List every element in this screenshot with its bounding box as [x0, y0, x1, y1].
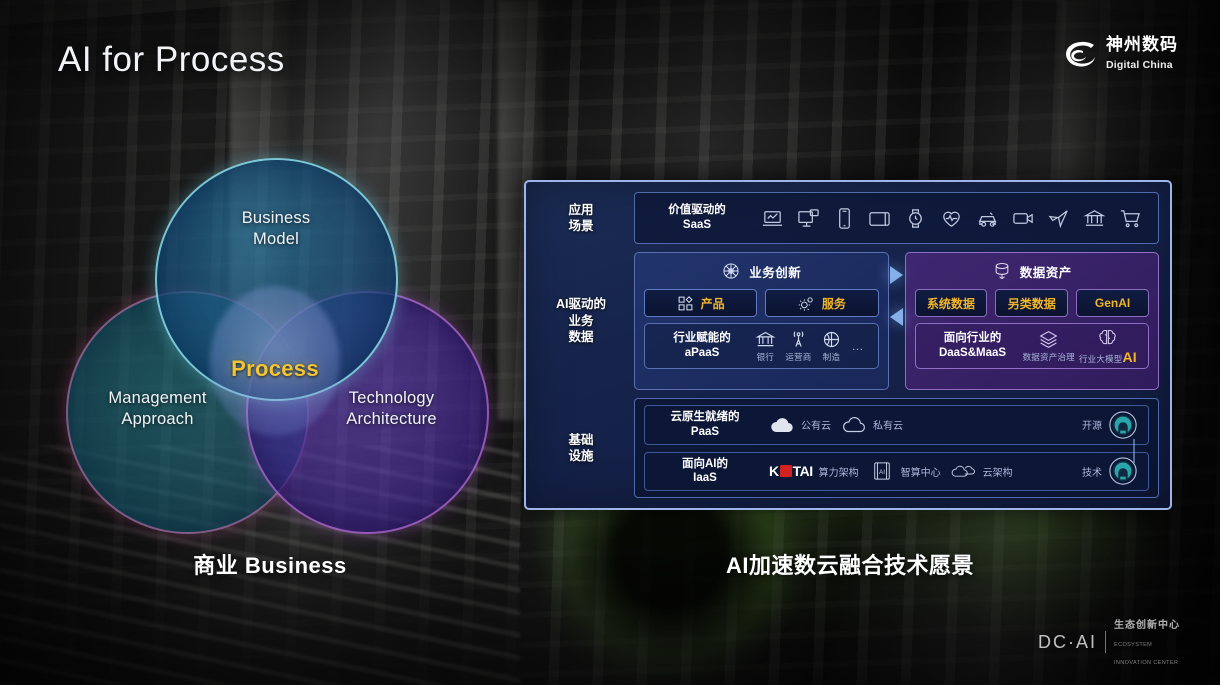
- sphere-network-icon: [721, 261, 741, 281]
- brand-logo: 神州数码 Digital China: [1063, 36, 1178, 73]
- iaas-title: 面向AI的 IaaS: [655, 457, 755, 486]
- kutai-red-square: [780, 465, 792, 477]
- openeuler-icon: [1108, 410, 1138, 440]
- tier-label-infrastructure: 基础 设施: [537, 398, 625, 498]
- shopping-cart-icon: [1119, 207, 1142, 230]
- iaas-item-ai-compute-center: AI 智算中心: [869, 461, 941, 481]
- brain-ai-icon: [1097, 327, 1118, 348]
- iaas-tail: 技术: [1082, 456, 1138, 486]
- footer-dcai-text: DC·AI: [1038, 632, 1097, 653]
- chip-product[interactable]: 产品: [644, 289, 757, 317]
- column-business-innovation: 业务创新 产品 服务: [634, 252, 889, 390]
- iaas-item-compute-arch: K TAI 算力架构: [769, 463, 859, 479]
- tier-label-ai-data: AI驱动的 业务 数据: [537, 252, 625, 390]
- tier-ai-driven-business-data: AI驱动的 业务 数据 业务创新: [537, 252, 1159, 390]
- chip-service[interactable]: 服务: [765, 289, 878, 317]
- chip-system-data[interactable]: 系统数据: [915, 289, 988, 317]
- tech-architecture-panel: 应用 场景 价值驱动的 SaaS: [524, 180, 1172, 510]
- caption-business: 商业 Business: [60, 548, 480, 580]
- venn-label-technology-architecture: Technology Architecture: [304, 388, 479, 431]
- venn-label-management-approach: Management Approach: [70, 388, 245, 431]
- application-icon-row: [749, 207, 1148, 230]
- daas-maas-title: 面向行业的 DaaS&MaaS: [925, 331, 1021, 360]
- business-innovation-chips: 产品 服务: [644, 289, 879, 317]
- brand-name-en: Digital China: [1106, 59, 1173, 71]
- apaas-item-manufacturing: 制造: [821, 329, 842, 363]
- brand-text: 神州数码 Digital China: [1106, 36, 1178, 73]
- paas-tail: 开源: [1082, 410, 1138, 440]
- bidirectional-arrow-icon: [889, 252, 905, 390]
- paas-card: 云原生就绪的 PaaS 公有云 私有云 开源: [644, 405, 1149, 445]
- chip-product-label: 产品: [701, 295, 725, 312]
- daas-item-data-governance: 数据资产治理: [1023, 329, 1075, 363]
- ai-server-icon: AI: [869, 461, 895, 481]
- daas-maas-card: 面向行业的 DaaS&MaaS 数据资产治理 行业大模型AI: [915, 323, 1150, 369]
- video-camera-icon: [1012, 207, 1035, 230]
- tier-label-application: 应用 场景: [537, 192, 625, 244]
- apaas-item-more: …: [852, 339, 864, 353]
- paas-item-private-cloud: 私有云: [841, 415, 903, 435]
- daas-item-industry-llm: 行业大模型AI: [1079, 327, 1137, 365]
- footer-divider: [1105, 631, 1106, 653]
- business-innovation-title: 业务创新: [749, 262, 801, 281]
- iaas-card: 面向AI的 IaaS K TAI 算力架构 AI 智算中心: [644, 452, 1149, 492]
- layers-data-icon: [1038, 329, 1059, 350]
- apaas-item-carrier: 运营商: [785, 329, 811, 363]
- bank-columns-icon: [755, 329, 776, 350]
- saas-group-title: 价值驱动的 SaaS: [645, 203, 749, 232]
- chip-alternative-data[interactable]: 另类数据: [995, 289, 1068, 317]
- gears-icon: [798, 295, 815, 312]
- cloud-filled-icon: [769, 415, 795, 435]
- footer-center-name: 生态创新中心 ECOSYSTEM INNOVATION CENTER: [1114, 615, 1180, 669]
- apaas-items: 银行 运营商 制造 …: [750, 329, 869, 363]
- tier-body-application: 价值驱动的 SaaS: [634, 192, 1159, 244]
- chip-service-label: 服务: [822, 295, 846, 312]
- airplane-icon: [1047, 207, 1070, 230]
- caption-tech-vision: AI加速数云融合技术愿景: [530, 548, 1170, 580]
- openeuler-connector: [1133, 439, 1135, 463]
- venn-label-process: Process: [210, 356, 340, 382]
- tier-body-infrastructure: 云原生就绪的 PaaS 公有云 私有云 开源: [634, 398, 1159, 498]
- antenna-tower-icon: [788, 329, 809, 350]
- paas-item-public-cloud: 公有云: [769, 415, 831, 435]
- tier-application-scenarios: 应用 场景 价值驱动的 SaaS: [537, 192, 1159, 244]
- apaas-item-bank: 银行: [755, 329, 776, 363]
- industry-llm-ai-mark: AI: [1123, 349, 1137, 365]
- column-data-assets: 数据资产 系统数据 另类数据 GenAI 面向行业的: [905, 252, 1160, 390]
- business-innovation-header: 业务创新: [644, 259, 879, 283]
- laptop-chart-icon: [761, 207, 784, 230]
- smartwatch-icon: [904, 207, 927, 230]
- paas-title: 云原生就绪的 PaaS: [655, 410, 755, 439]
- data-assets-chips: 系统数据 另类数据 GenAI: [915, 289, 1150, 317]
- cloud-outline-icon: [841, 415, 867, 435]
- paas-items: 公有云 私有云: [755, 415, 1082, 435]
- page-title: AI for Process: [58, 40, 285, 80]
- daas-maas-items: 数据资产治理 行业大模型AI: [1021, 327, 1140, 365]
- svg-text:AI: AI: [879, 469, 885, 476]
- bank-icon: [1083, 207, 1106, 230]
- apaas-title: 行业赋能的 aPaaS: [654, 331, 750, 360]
- gear-globe-icon: [821, 329, 842, 350]
- grid-blocks-icon: [677, 295, 694, 312]
- tier-body-ai-data: 业务创新 产品 服务: [634, 252, 1159, 390]
- footer-dcai-mark: DC·AI 生态创新中心 ECOSYSTEM INNOVATION CENTER: [1038, 615, 1180, 669]
- tier-infrastructure: 基础 设施 云原生就绪的 PaaS 公有云 私有云: [537, 398, 1159, 498]
- car-icon: [976, 207, 999, 230]
- kutai-logo: K TAI: [769, 463, 813, 479]
- data-assets-header: 数据资产: [915, 259, 1150, 283]
- iaas-item-cloud-arch: 云架构: [951, 461, 1013, 481]
- iaas-items: K TAI 算力架构 AI 智算中心 云架构: [755, 461, 1082, 481]
- ellipsis-icon: …: [852, 339, 864, 353]
- digital-china-swirl-icon: [1063, 39, 1097, 71]
- heartbeat-icon: [940, 207, 963, 230]
- venn-diagram: Business Model Management Approach Techn…: [60, 158, 480, 518]
- tablet-icon: [868, 207, 891, 230]
- chip-genai[interactable]: GenAI: [1076, 289, 1149, 317]
- smartphone-icon: [833, 207, 856, 230]
- database-icon: [992, 261, 1012, 281]
- data-assets-title: 数据资产: [1020, 262, 1072, 281]
- brand-name-cn: 神州数码: [1106, 35, 1178, 54]
- venn-label-business-model: Business Model: [206, 208, 346, 251]
- apaas-card: 行业赋能的 aPaaS 银行 运营商: [644, 323, 879, 369]
- multi-cloud-icon: [951, 461, 977, 481]
- desktop-media-icon: [797, 207, 820, 230]
